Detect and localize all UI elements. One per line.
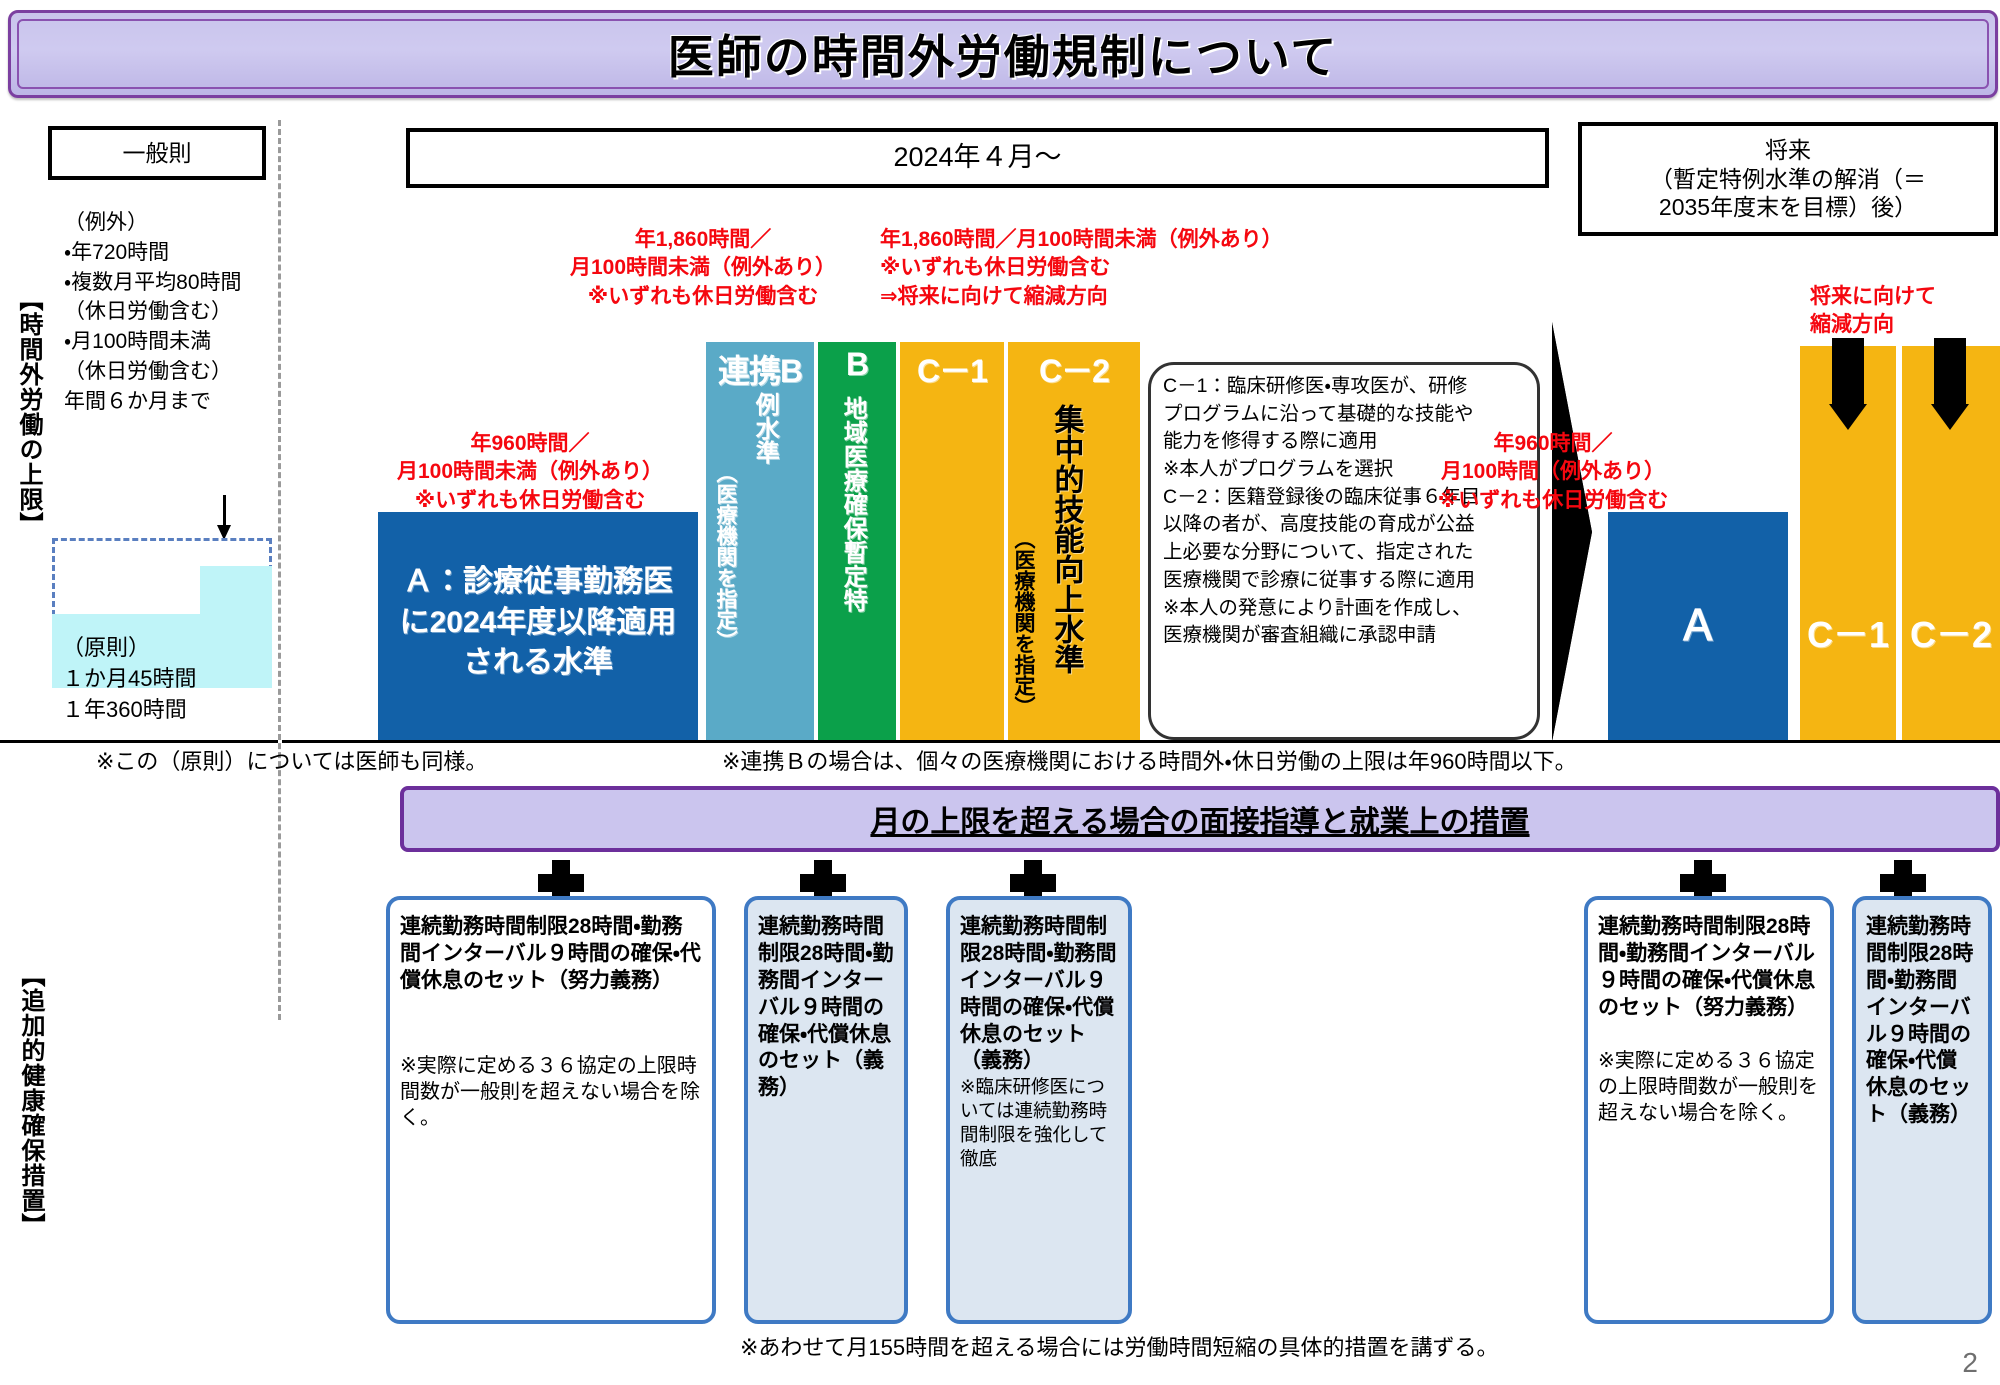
future-red-note-a-line-0: 年960時間／: [1388, 430, 1718, 458]
future-level-column-c1-label: C－1: [1800, 606, 1896, 658]
future-red-note-a-line-2: ※いずれも休日労働含む: [1388, 487, 1718, 515]
level-column-b-body: 地域医療確保暫定特: [840, 396, 865, 732]
level-column-c1-cap: C－1: [900, 346, 1004, 392]
level-column-renkei-b-body: 例水準: [752, 392, 777, 722]
red-note-a-line-0: 年960時間／: [370, 430, 690, 458]
health-measure-card-future-c-main: 連続勤務時間制限28時間・勤務間インターバル９時間の確保・代償休息のセット（義務…: [1866, 914, 1978, 1129]
red-note-c-line-2: ⇒将来に向けて縮減方向: [880, 283, 1380, 311]
slide-title-banner: 医師の時間外労働規制について: [8, 10, 1998, 98]
red-note-b-level: 年1,860時間／ 月100時間未満（例外あり） ※いずれも休日労働含む: [538, 226, 868, 311]
page-number: 2: [1962, 1347, 1978, 1379]
general-rule-principle-text: （原則） １か月45時間 １年360時間: [62, 632, 262, 726]
red-note-b-line-0: 年1,860時間／: [538, 226, 868, 254]
future-red-note-reduce-line-1: 縮減方向: [1810, 311, 2000, 339]
c-note-line-9: 医療機関が審査組織に承認申請: [1163, 622, 1525, 650]
health-measure-card-b-c[interactable]: 連続勤務時間制限28時間・勤務間インターバル９時間の確保・代償休息のセット（義務…: [946, 896, 1132, 1324]
left-panel-baseline: [0, 740, 278, 743]
exception-line-6: 年間６か月まで: [64, 387, 284, 417]
future-reduce-arrow-c1: [1818, 338, 1878, 438]
general-rule-header: 一般則: [48, 126, 266, 180]
red-note-a-line-1: 月100時間未満（例外あり）: [370, 458, 690, 486]
exception-line-3: （休日労働含む）: [64, 297, 284, 327]
phase-separator-arrow: [1552, 322, 1604, 742]
general-rule-exception-text: （例外） ・年720時間 ・複数月平均80時間 （休日労働含む） ・月100時間…: [64, 208, 284, 417]
health-measure-card-future-a[interactable]: 連続勤務時間制限28時間・勤務間インターバル９時間の確保・代償休息のセット（努力…: [1584, 896, 1834, 1324]
additional-health-measures-vertical-label: 【追加的健康確保措置】: [10, 890, 44, 1310]
red-note-c-line-1: ※いずれも休日労働含む: [880, 254, 1380, 282]
level-column-b-cap: B: [818, 346, 896, 383]
health-measure-card-b-c-sub: ※臨床研修医については連続勤務時間制限を強化して徹底: [960, 1075, 1118, 1171]
period-2024-header: 2024年４月～: [406, 128, 1549, 188]
level-column-c1[interactable]: C－1: [900, 342, 1004, 740]
future-red-note-a-line-1: 月100時間（例外あり）: [1388, 458, 1718, 486]
health-measure-card-a-main: 連続勤務時間制限28時間・勤務間インターバル９時間の確保・代償休息のセット（努力…: [400, 914, 702, 995]
future-red-note-a: 年960時間／ 月100時間（例外あり） ※いずれも休日労働含む: [1388, 430, 1718, 515]
red-note-c-level: 年1,860時間／月100時間未満（例外あり） ※いずれも休日労働含む ⇒将来に…: [880, 226, 1380, 311]
c-note-line-0: C－1：臨床研修医・専攻医が、研修: [1163, 373, 1525, 401]
health-measure-card-a-sub: ※実際に定める３６協定の上限時間数が一般則を超えない場合を除く。: [400, 1053, 702, 1131]
health-measure-card-future-c[interactable]: 連続勤務時間制限28時間・勤務間インターバル９時間の確保・代償休息のセット（義務…: [1852, 896, 1992, 1324]
future-red-note-reduce-line-0: 将来に向けて: [1810, 283, 2000, 311]
future-header-line-2: 2035年度末を目標）後）: [1659, 193, 1917, 222]
level-column-renkei-b[interactable]: 連携B 例水準 （医療機関を指定）: [706, 342, 814, 740]
level-column-c2-body2: （医療機関を指定）: [1012, 528, 1034, 734]
health-measure-card-future-a-main: 連続勤務時間制限28時間・勤務間インターバル９時間の確保・代償休息のセット（努力…: [1598, 914, 1820, 1022]
level-column-renkei-b-cap: 連携B: [706, 346, 814, 392]
level-column-c2-body: 集中的技能向上水準: [1050, 404, 1082, 734]
level-column-renkei-b-body2: （医療機関を指定）: [714, 462, 736, 732]
future-header: 将来 （暫定特例水準の解消（＝ 2035年度末を目標）後）: [1578, 122, 1998, 236]
health-measure-card-renkei-b[interactable]: 連続勤務時間制限28時間・勤務間インターバル９時間の確保・代償休息のセット（義務…: [744, 896, 908, 1324]
principle-line-2: １年360時間: [62, 694, 262, 725]
overtime-cap-vertical-label: 【時間外労働の上限】: [8, 232, 42, 592]
exception-line-4: ・月100時間未満: [64, 327, 284, 357]
level-column-c2[interactable]: C－2 集中的技能向上水準 （医療機関を指定）: [1008, 342, 1140, 740]
principle-line-1: １か月45時間: [62, 663, 262, 694]
red-note-a-level: 年960時間／ 月100時間未満（例外あり） ※いずれも休日労働含む: [370, 430, 690, 515]
future-reduce-arrow-c2: [1920, 338, 1980, 438]
page-title: 医師の時間外労働規制について: [668, 21, 1339, 87]
health-measure-card-a[interactable]: 連続勤務時間制限28時間・勤務間インターバル９時間の確保・代償休息のセット（努力…: [386, 896, 716, 1324]
red-note-a-line-2: ※いずれも休日労働含む: [370, 487, 690, 515]
exception-line-5: （休日労働含む）: [64, 357, 284, 387]
renkei-b-footnote: ※連携Ｂの場合は、個々の医療機関における時間外・休日労働の上限は年960時間以下…: [722, 748, 1972, 777]
level-column-a-label: Ａ：診療従事勤務医に2024年度以降適用される水準: [392, 562, 684, 684]
future-header-line-1: （暫定特例水準の解消（＝: [1650, 165, 1926, 194]
future-red-note-reduce: 将来に向けて 縮減方向: [1810, 283, 2000, 340]
level-column-a[interactable]: Ａ：診療従事勤務医に2024年度以降適用される水準: [378, 512, 698, 740]
c-note-line-1: プログラムに沿って基礎的な技能や: [1163, 401, 1525, 429]
c-note-line-8: ※本人の発意により計画を作成し、: [1163, 595, 1525, 623]
level-column-c2-cap: C－2: [1008, 346, 1140, 392]
red-note-c-line-0: 年1,860時間／月100時間未満（例外あり）: [880, 226, 1380, 254]
bottom-footnote: ※あわせて月155時間を超える場合には労働時間短縮の具体的措置を講ずる。: [740, 1334, 1940, 1363]
c-level-explanation-box: C－1：臨床研修医・専攻医が、研修 プログラムに沿って基礎的な技能や 能力を修得…: [1148, 362, 1540, 740]
principle-line-0: （原則）: [62, 632, 262, 663]
red-note-b-line-1: 月100時間未満（例外あり）: [538, 254, 868, 282]
exception-line-1: ・年720時間: [64, 238, 284, 268]
general-rule-footnote: ※この（原則）については医師も同様。: [96, 748, 556, 777]
level-column-b[interactable]: B 地域医療確保暫定特: [818, 342, 896, 740]
exception-line-0: （例外）: [64, 208, 284, 238]
c-note-line-5: 以降の者が、高度技能の育成が公益: [1163, 511, 1525, 539]
future-header-line-0: 将来: [1765, 136, 1811, 165]
exception-line-2: ・複数月平均80時間: [64, 268, 284, 298]
center-panel-baseline: [282, 740, 2000, 743]
health-measure-card-renkei-b-main: 連続勤務時間制限28時間・勤務間インターバル９時間の確保・代償休息のセット（義務…: [758, 914, 894, 1102]
future-level-column-a[interactable]: Ａ: [1608, 512, 1788, 740]
future-level-column-c2-label: C－2: [1902, 606, 2000, 658]
health-measure-card-future-a-sub: ※実際に定める３６協定の上限時間数が一般則を超えない場合を除く。: [1598, 1048, 1820, 1126]
c-note-line-6: 上必要な分野について、指定された: [1163, 539, 1525, 567]
c-note-line-7: 医療機関で診療に従事する際に適用: [1163, 567, 1525, 595]
interview-guidance-band: 月の上限を超える場合の面接指導と就業上の措置: [400, 786, 2000, 852]
future-level-column-a-label: Ａ: [1608, 592, 1788, 653]
red-note-b-line-2: ※いずれも休日労働含む: [538, 283, 868, 311]
health-measure-card-b-c-main: 連続勤務時間制限28時間・勤務間インターバル９時間の確保・代償休息のセット（義務…: [960, 914, 1118, 1075]
